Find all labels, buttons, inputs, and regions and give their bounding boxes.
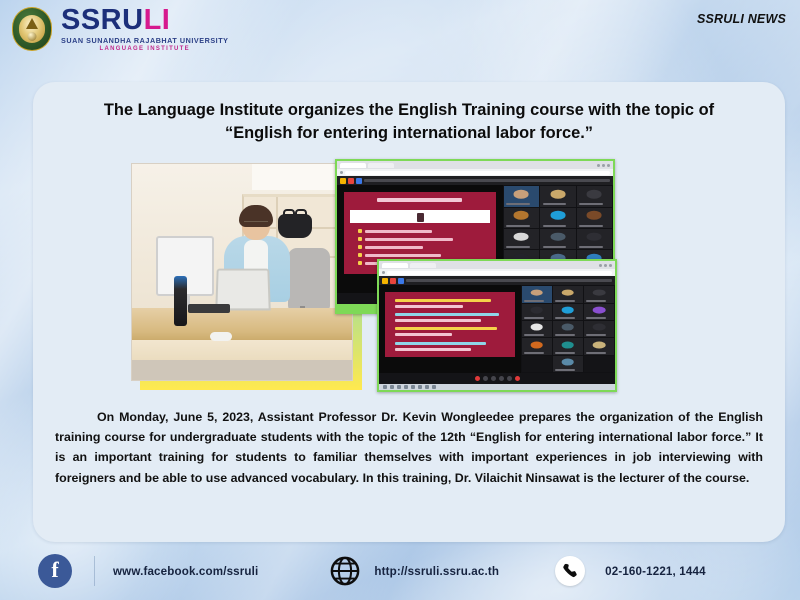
page-footer: f www.facebook.com/ssruli http://ssruli.… (0, 542, 800, 600)
phone-numbers: 02-160-1221, 1444 (605, 565, 706, 578)
participant-tile (522, 304, 552, 320)
participant-tile (584, 356, 614, 372)
windows-taskbar (379, 384, 615, 390)
headline-line-2: “English for entering international labo… (59, 122, 759, 145)
participant-tile (584, 304, 614, 320)
participant-tile (553, 356, 583, 372)
wordmark-primary: SSRU (61, 4, 144, 36)
meeting-body (379, 285, 615, 373)
website-url[interactable]: http://ssruli.ssru.ac.th (374, 565, 499, 578)
participant-tile (553, 321, 583, 337)
participant-tile (522, 321, 552, 337)
university-seal-icon (12, 7, 52, 51)
lecturer-at-desk-photo (131, 163, 353, 381)
phone-icon (555, 556, 585, 586)
page-header: SSRULI SUAN SUNANDHA RAJABHAT UNIVERSITY… (0, 0, 800, 66)
participant-tile (540, 229, 575, 249)
browser-tab-bar (379, 261, 615, 269)
meeting-app-header (337, 176, 613, 185)
brand-logo: SSRULI SUAN SUNANDHA RAJABHAT UNIVERSITY… (12, 6, 229, 52)
presentation-slide (385, 292, 515, 357)
participant-tile (504, 208, 539, 228)
participant-tile (504, 186, 539, 206)
facebook-icon[interactable]: f (38, 554, 72, 588)
participant-tile (553, 304, 583, 320)
wordmark-subtitle-institute: LANGUAGE INSTITUTE (61, 46, 229, 52)
participant-tile (577, 229, 612, 249)
online-class-video-call-screenshot-secondary (377, 259, 617, 392)
participant-tile (553, 286, 583, 302)
screenshot-stack (335, 157, 645, 397)
participant-tile (540, 186, 575, 206)
headline-line-1: The Language Institute organizes the Eng… (59, 99, 759, 122)
globe-icon (330, 556, 360, 586)
article-body: On Monday, June 5, 2023, Assistant Profe… (55, 407, 763, 487)
browser-address-bar (379, 269, 615, 276)
media-row (33, 157, 785, 397)
participant-grid (521, 285, 615, 373)
page-title: The Language Institute organizes the Eng… (33, 82, 785, 144)
participant-tile (522, 338, 552, 354)
browser-address-bar (337, 169, 613, 176)
wordmark: SSRULI SUAN SUNANDHA RAJABHAT UNIVERSITY… (61, 6, 229, 52)
participant-tile (522, 286, 552, 302)
lecturer-photo (131, 163, 353, 381)
content-card: The Language Institute organizes the Eng… (33, 82, 785, 542)
participant-tile (577, 208, 612, 228)
participant-tile (584, 338, 614, 354)
participant-tile (584, 286, 614, 302)
participant-tile (522, 356, 552, 372)
participant-tile (553, 338, 583, 354)
participant-tile (504, 229, 539, 249)
facebook-url[interactable]: www.facebook.com/ssruli (113, 565, 258, 578)
participant-tile (540, 208, 575, 228)
participant-tile (584, 321, 614, 337)
news-tag: SSRULI NEWS (697, 12, 786, 26)
wordmark-accent: LI (144, 4, 171, 36)
participant-tile (577, 186, 612, 206)
shared-slide-stage (379, 285, 521, 373)
meeting-app-header (379, 276, 615, 285)
footer-divider (94, 556, 95, 586)
wordmark-subtitle-university: SUAN SUNANDHA RAJABHAT UNIVERSITY (61, 37, 229, 44)
meeting-control-bar (379, 373, 615, 384)
browser-tab-bar (337, 161, 613, 169)
